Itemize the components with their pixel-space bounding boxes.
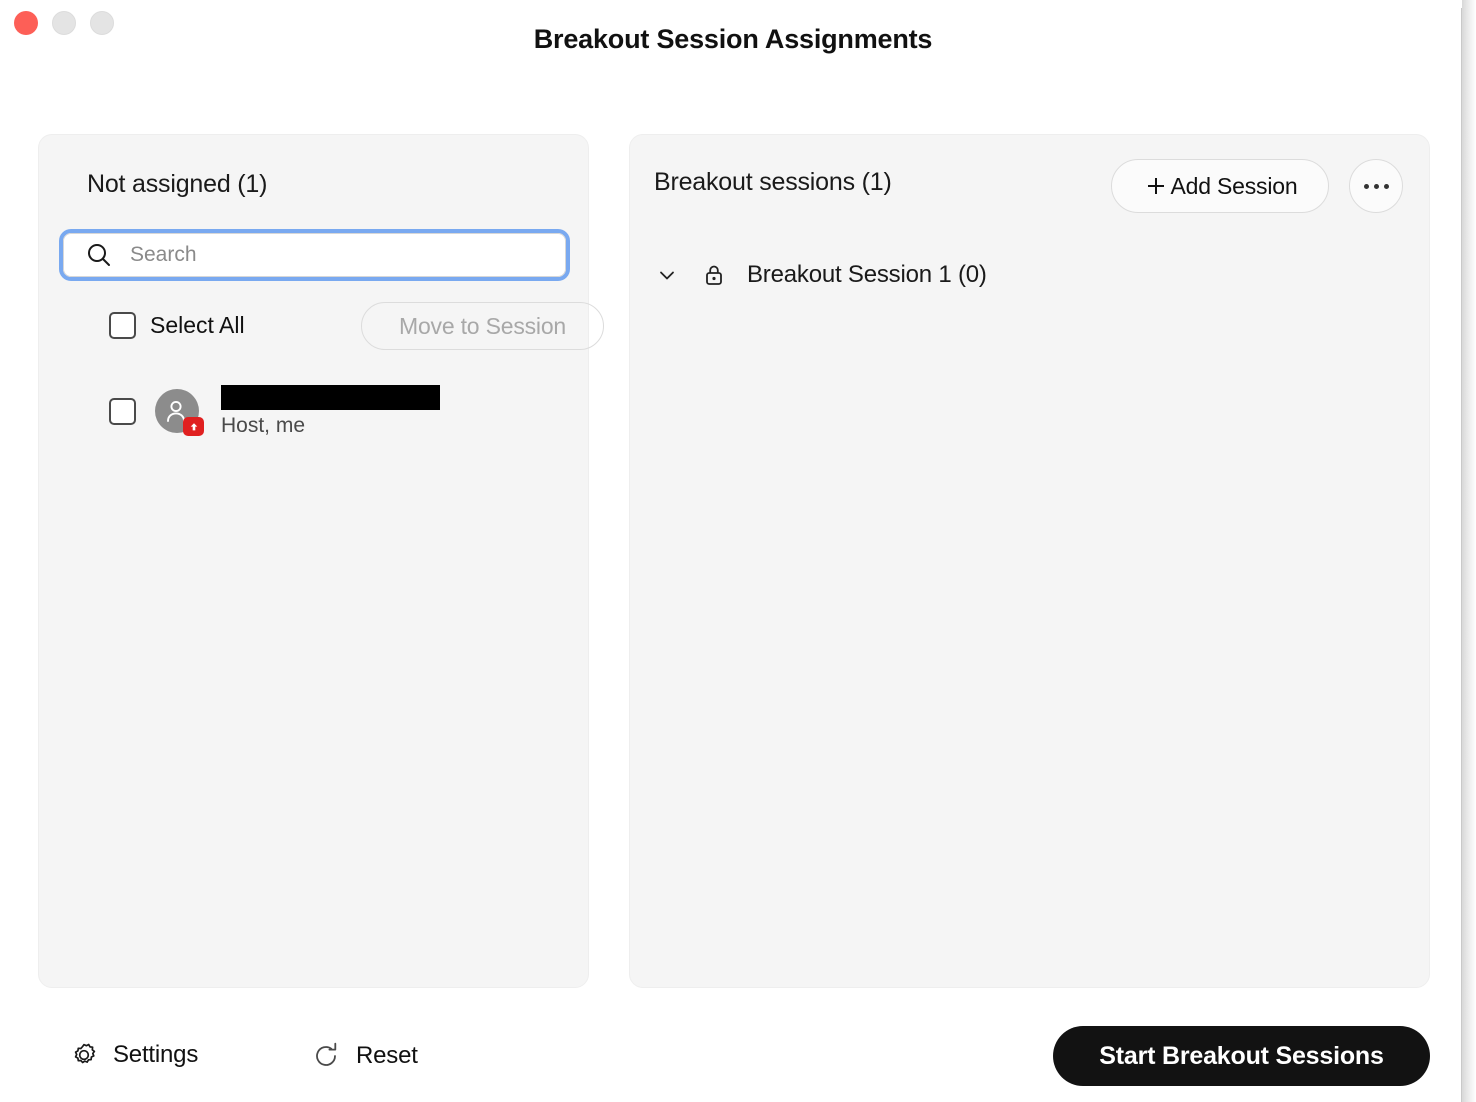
participant-text: Host, me [221,381,440,441]
chevron-down-icon[interactable] [654,262,680,288]
share-screen-icon [183,417,204,436]
gear-icon [69,1040,99,1070]
select-all-checkbox[interactable] [109,312,136,339]
refresh-icon [310,1040,342,1072]
avatar [155,389,199,433]
add-session-button[interactable]: Add Session [1111,159,1329,213]
breakout-sessions-heading: Breakout sessions (1) [654,168,892,197]
search-input[interactable] [128,242,548,268]
window-shadow [1462,0,1476,1102]
reset-label: Reset [356,1042,418,1070]
plus-icon [1143,173,1169,199]
app-window: Breakout Session Assignments Not assigne… [0,0,1466,1102]
not-assigned-panel: Not assigned (1) Select All Move to Sess… [38,134,589,988]
session-label: Breakout Session 1 (0) [747,261,987,289]
ellipsis-icon [1384,184,1389,189]
session-row[interactable]: Breakout Session 1 (0) [646,253,1415,297]
settings-button[interactable]: Settings [69,1040,198,1070]
not-assigned-heading: Not assigned (1) [87,170,267,199]
settings-label: Settings [113,1041,198,1069]
more-options-button[interactable] [1349,159,1403,213]
participant-role: Host, me [221,414,440,438]
move-to-session-button[interactable]: Move to Session [361,302,604,350]
breakout-sessions-panel: Breakout sessions (1) Add Session [629,134,1430,988]
reset-button[interactable]: Reset [310,1040,418,1072]
list-item[interactable]: Host, me [59,375,570,447]
start-breakout-sessions-button[interactable]: Start Breakout Sessions [1053,1026,1430,1086]
page-title: Breakout Session Assignments [0,24,1466,55]
ellipsis-icon [1374,184,1379,189]
search-box[interactable] [59,229,570,281]
add-session-label: Add Session [1171,173,1298,200]
select-all-row: Select All Move to Session [59,299,570,351]
select-all-label: Select All [150,312,245,339]
lock-icon [702,262,726,288]
participant-name-redacted [221,385,440,410]
ellipsis-icon [1364,184,1369,189]
search-icon [86,242,112,268]
participant-checkbox[interactable] [109,398,136,425]
